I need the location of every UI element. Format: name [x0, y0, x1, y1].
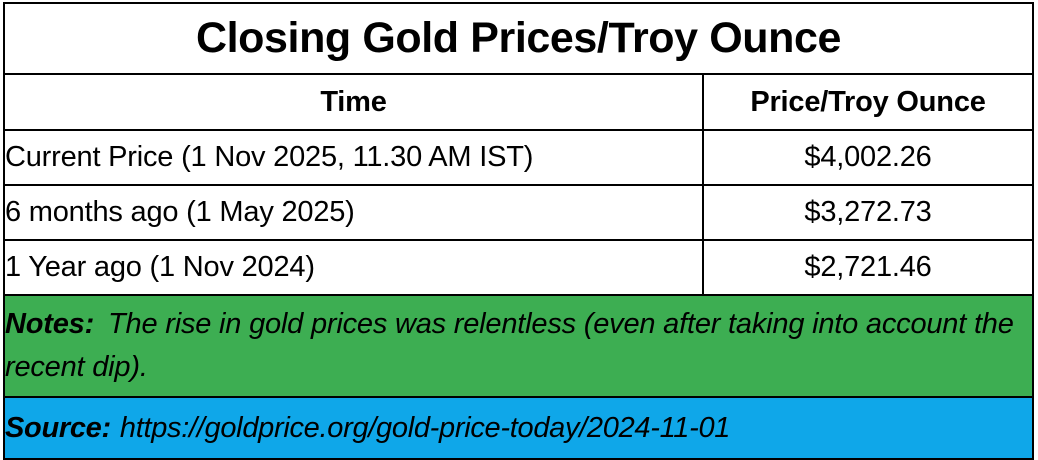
notes-cell: Notes:The rise in gold prices was relent… — [4, 295, 1033, 397]
page-title: Closing Gold Prices/Troy Ounce — [4, 3, 1033, 74]
row-price-value: $4,002.26 — [703, 130, 1033, 185]
notes-label: Notes: — [5, 308, 94, 340]
source-cell: Source:https://goldprice.org/gold-price-… — [4, 397, 1033, 459]
notes-row: Notes:The rise in gold prices was relent… — [4, 295, 1033, 397]
table-row: 6 months ago (1 May 2025) $3,272.73 — [4, 185, 1033, 240]
column-header-price: Price/Troy Ounce — [703, 74, 1033, 130]
source-row: Source:https://goldprice.org/gold-price-… — [4, 397, 1033, 459]
row-time-label: 6 months ago (1 May 2025) — [4, 185, 703, 240]
row-time-label: Current Price (1 Nov 2025, 11.30 AM IST) — [4, 130, 703, 185]
row-price-value: $3,272.73 — [703, 185, 1033, 240]
table-header-row: Time Price/Troy Ounce — [4, 74, 1033, 130]
source-url-link[interactable]: https://goldprice.org/gold-price-today/2… — [120, 412, 730, 444]
column-header-time: Time — [4, 74, 703, 130]
notes-text: The rise in gold prices was relentless (… — [5, 308, 1014, 383]
gold-price-table-container: Closing Gold Prices/Troy Ounce Time Pric… — [3, 2, 1034, 445]
gold-price-table: Closing Gold Prices/Troy Ounce Time Pric… — [3, 2, 1034, 460]
table-row: 1 Year ago (1 Nov 2024) $2,721.46 — [4, 240, 1033, 295]
row-time-label: 1 Year ago (1 Nov 2024) — [4, 240, 703, 295]
source-label: Source: — [5, 412, 111, 444]
row-price-value: $2,721.46 — [703, 240, 1033, 295]
table-title-row: Closing Gold Prices/Troy Ounce — [4, 3, 1033, 74]
table-row: Current Price (1 Nov 2025, 11.30 AM IST)… — [4, 130, 1033, 185]
